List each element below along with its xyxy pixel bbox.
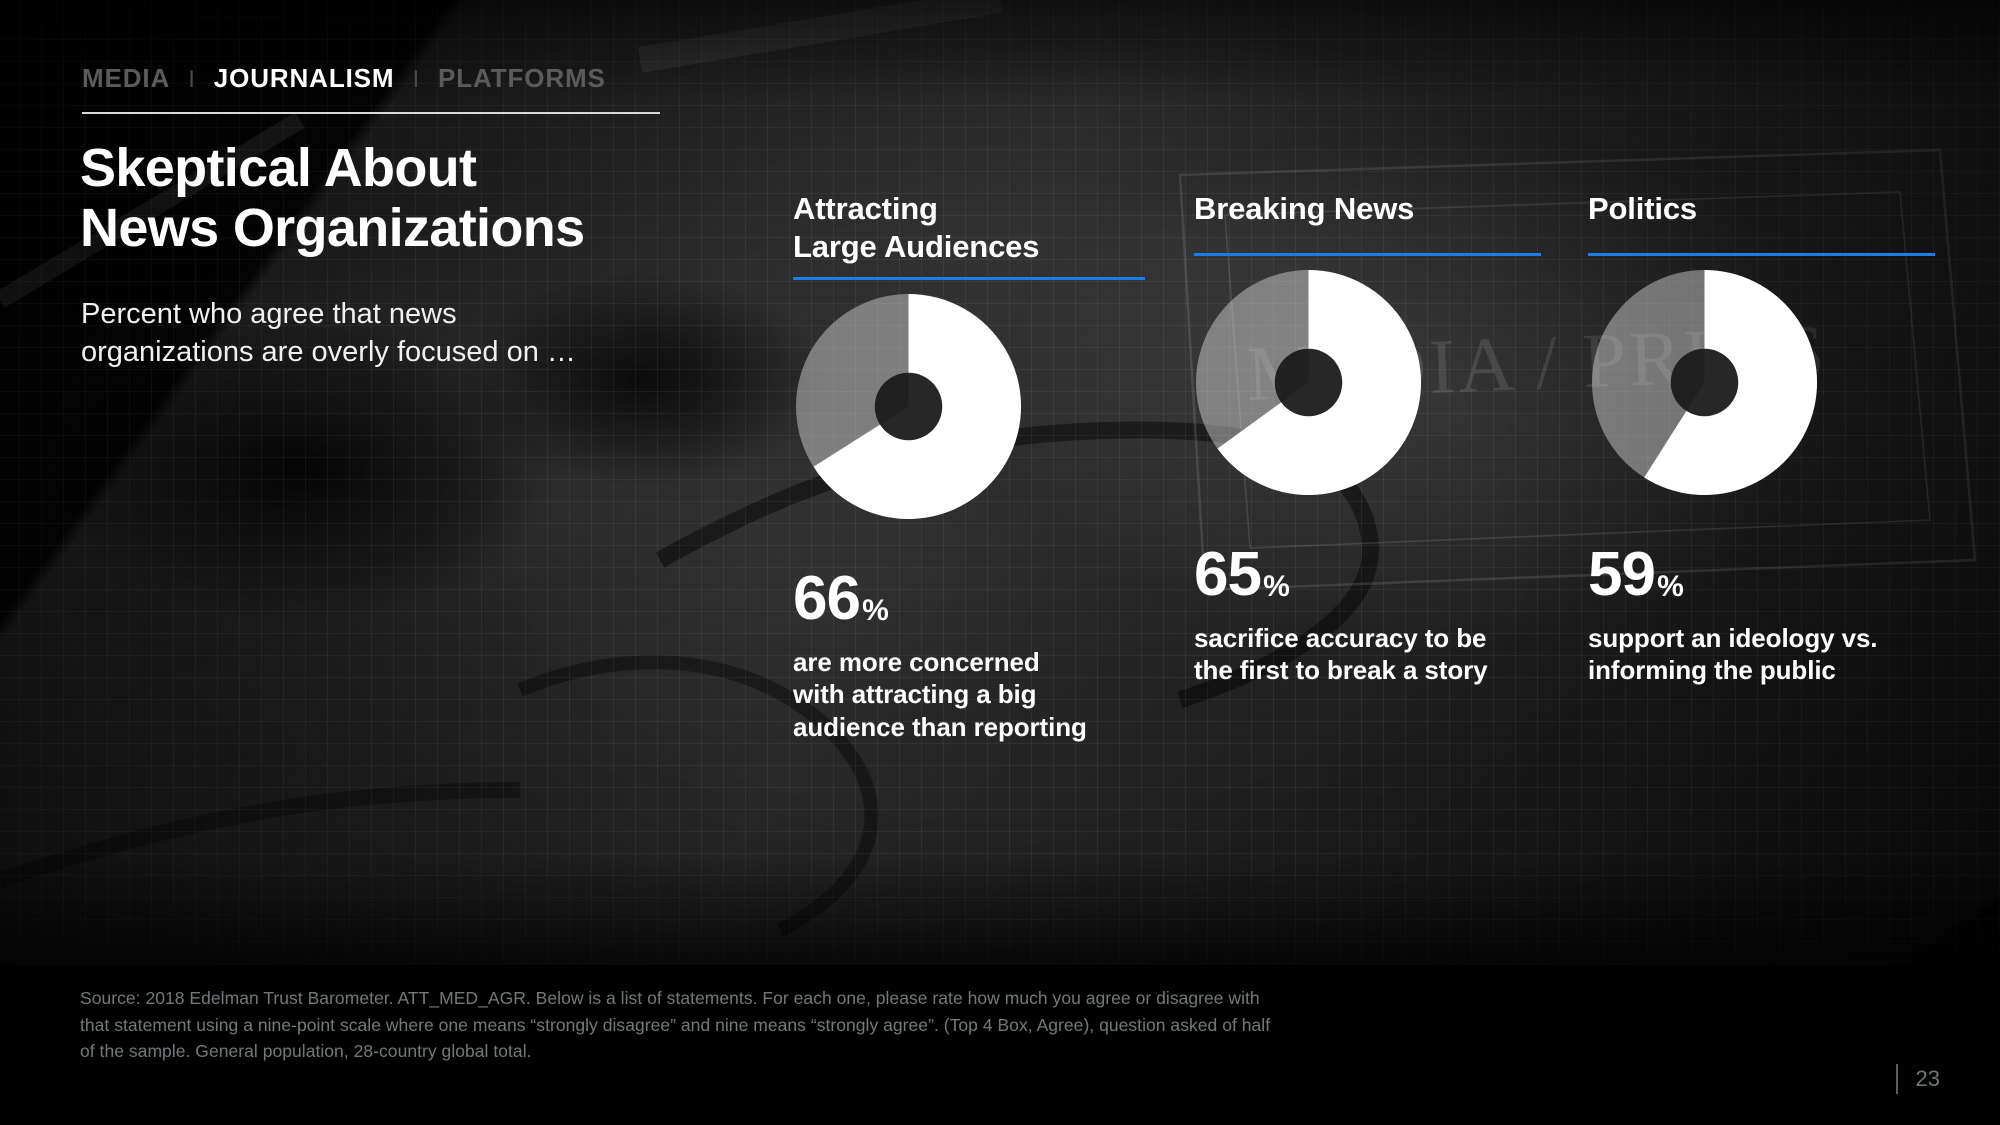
donut-chart-svg <box>796 294 1021 519</box>
column-heading-line-1: Politics <box>1588 190 1940 228</box>
donut-chart-container <box>793 280 1145 570</box>
page-subtitle: Percent who agree that news organization… <box>81 295 681 372</box>
page-title-line-1: Skeptical About <box>80 138 700 198</box>
nav-separator-2: I <box>412 66 420 94</box>
stat-column-breaking-news: Breaking News 65 % sacrifice accuracy to… <box>1194 190 1546 686</box>
stat-value: 66 % <box>793 568 1145 630</box>
column-heading: Politics <box>1588 190 1940 242</box>
stat-description-line-3: audience than reporting <box>793 711 1145 743</box>
slide-root: MEDIA / PRESS MEDIA I JOURNALISM I PLATF… <box>0 0 2000 1125</box>
donut-center-hole <box>875 373 943 441</box>
page-title-line-2: News Organizations <box>80 198 700 258</box>
stat-description-line-2: with attracting a big <box>793 678 1145 710</box>
donut-chart-svg <box>1196 270 1421 495</box>
stat-value: 65 % <box>1194 544 1546 606</box>
page-number: 23 <box>1916 1066 1940 1092</box>
stat-value: 59 % <box>1588 544 1940 606</box>
stat-description-line-2: the first to break a story <box>1194 654 1546 686</box>
stat-description-line-2: informing the public <box>1588 654 1940 686</box>
donut-chart <box>1196 270 1421 495</box>
page-number-divider <box>1896 1064 1898 1094</box>
stat-description: are more concerned with attracting a big… <box>793 646 1145 743</box>
stat-value-percent-symbol: % <box>1263 572 1289 606</box>
source-note-line-3: of the sample. General population, 28-co… <box>80 1038 1400 1065</box>
donut-chart-container <box>1588 256 1940 546</box>
column-heading: Breaking News <box>1194 190 1546 242</box>
stat-description-line-1: sacrifice accuracy to be <box>1194 622 1546 654</box>
source-note-line-2: that statement using a nine-point scale … <box>80 1012 1400 1039</box>
stat-value-percent-symbol: % <box>1657 572 1683 606</box>
stat-description: support an ideology vs. informing the pu… <box>1588 622 1940 686</box>
nav-separator-1: I <box>188 66 196 94</box>
page-number-group: 23 <box>1896 1064 1940 1094</box>
nav-item-media[interactable]: MEDIA <box>82 63 170 94</box>
stat-value-percent-symbol: % <box>862 596 888 630</box>
column-heading: Attracting Large Audiences <box>793 190 1145 266</box>
donut-chart <box>796 294 1021 519</box>
nav-item-journalism[interactable]: JOURNALISM <box>214 63 395 94</box>
stat-value-number: 65 <box>1194 544 1261 606</box>
page-subtitle-line-1: Percent who agree that news <box>81 295 681 333</box>
donut-chart-container <box>1194 256 1546 546</box>
page-subtitle-line-2: organizations are overly focused on … <box>81 333 681 371</box>
section-nav[interactable]: MEDIA I JOURNALISM I PLATFORMS <box>82 63 606 94</box>
column-heading-line-1: Attracting <box>793 190 1145 228</box>
nav-item-platforms[interactable]: PLATFORMS <box>438 63 606 94</box>
column-heading-line-1: Breaking News <box>1194 190 1546 228</box>
stat-value-number: 66 <box>793 568 860 630</box>
donut-center-hole <box>1671 349 1739 417</box>
column-heading-line-2: Large Audiences <box>793 228 1145 266</box>
source-note-line-1: Source: 2018 Edelman Trust Barometer. AT… <box>80 985 1400 1012</box>
stat-column-attracting-large-audiences: Attracting Large Audiences 66 % are more <box>793 190 1145 743</box>
stat-value-number: 59 <box>1588 544 1655 606</box>
nav-underline <box>82 112 660 114</box>
donut-chart <box>1592 270 1817 495</box>
donut-chart-svg <box>1592 270 1817 495</box>
stat-column-politics: Politics 59 % support an ideology vs. in <box>1588 190 1940 686</box>
page-title: Skeptical About News Organizations <box>80 138 700 259</box>
donut-center-hole <box>1275 349 1343 417</box>
stat-description: sacrifice accuracy to be the first to br… <box>1194 622 1546 686</box>
source-note: Source: 2018 Edelman Trust Barometer. AT… <box>80 985 1400 1065</box>
stat-description-line-1: are more concerned <box>793 646 1145 678</box>
stat-description-line-1: support an ideology vs. <box>1588 622 1940 654</box>
